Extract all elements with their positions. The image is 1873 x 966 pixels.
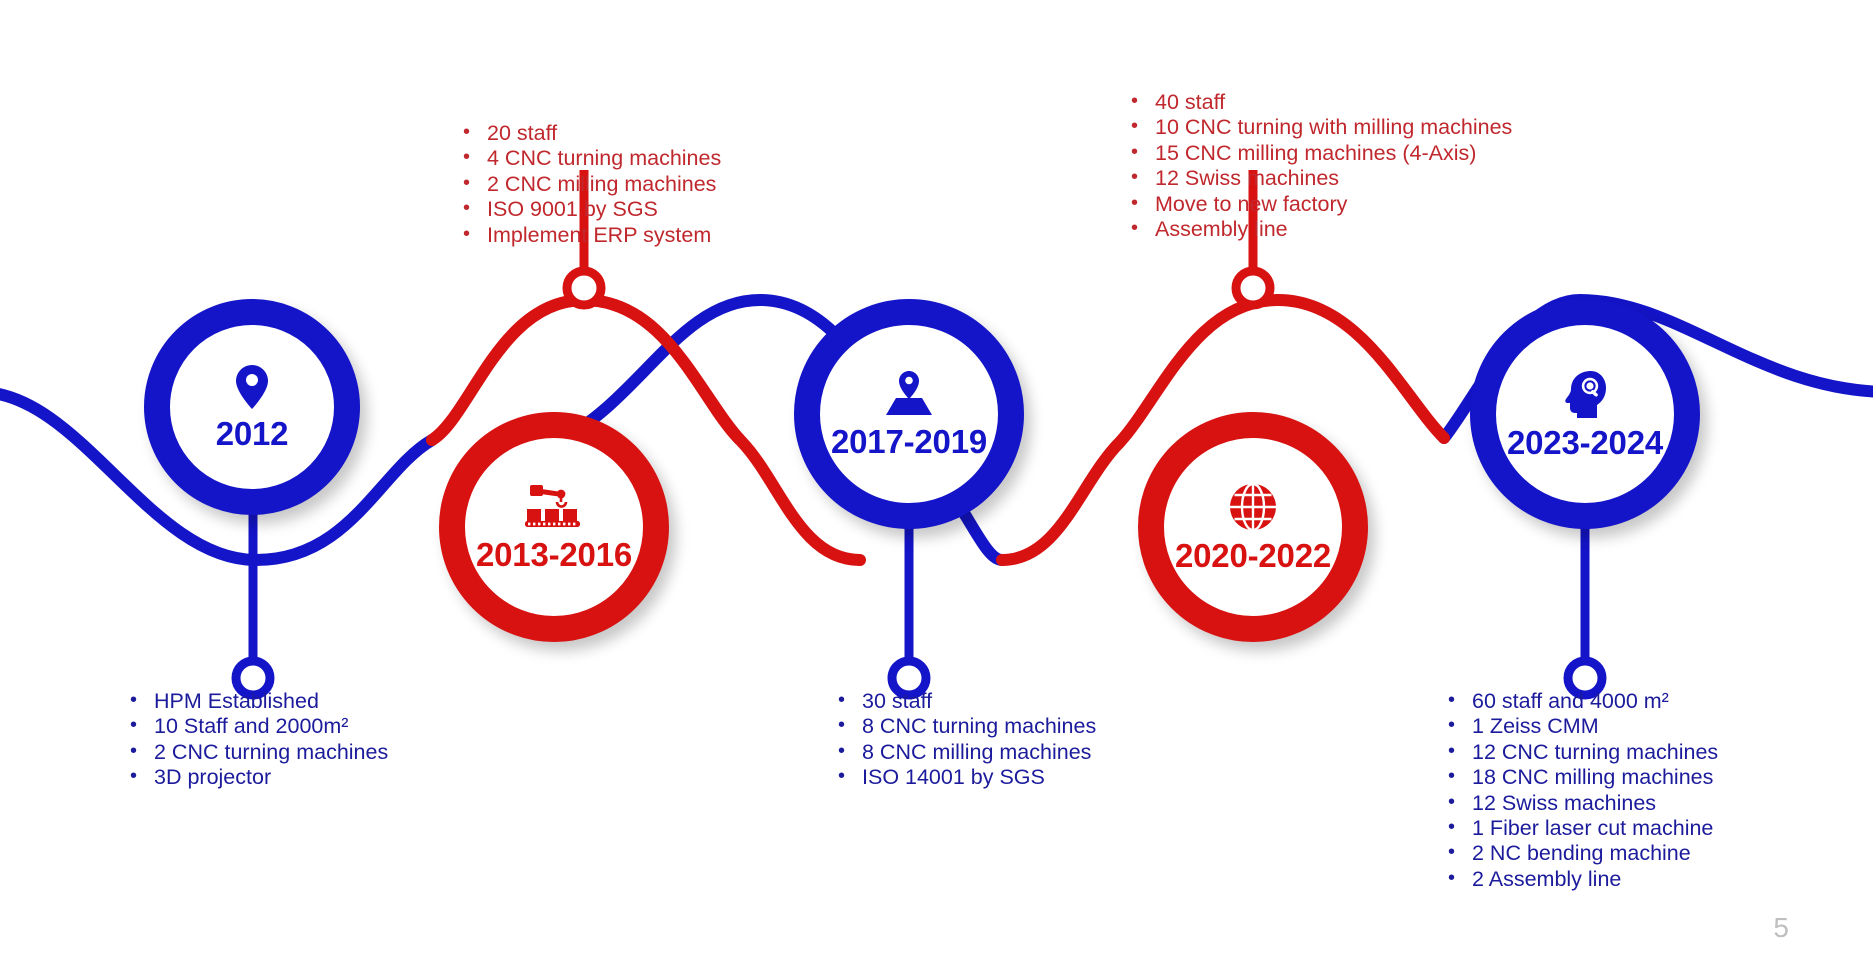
page-number: 5: [1773, 912, 1789, 944]
milestone-node-2017-2019[interactable]: 2017-2019: [794, 299, 1024, 529]
list-item: ISO 14001 by SGS: [830, 765, 1096, 790]
bullet-list-2020-2022: 40 staff 10 CNC turning with milling mac…: [1123, 90, 1512, 242]
location-map-icon: [880, 370, 938, 423]
list-item: ISO 9001 by SGS: [455, 197, 721, 222]
list-item: HPM Established: [122, 689, 388, 714]
list-item: Assembly line: [1123, 217, 1512, 242]
milestone-node-2023-2024[interactable]: 2023-2024: [1470, 299, 1700, 529]
milestone-label-2012: 2012: [216, 417, 289, 450]
list-item: 10 Staff and 2000m²: [122, 714, 388, 739]
list-item: 2 NC bending machine: [1440, 841, 1718, 866]
list-item: 30 staff: [830, 689, 1096, 714]
list-item: 1 Fiber laser cut machine: [1440, 816, 1718, 841]
milestone-node-2013-2016[interactable]: 2013-2016: [439, 412, 669, 642]
list-item: 40 staff: [1123, 90, 1512, 115]
list-item: 3D projector: [122, 765, 388, 790]
list-item: 12 Swiss machines: [1123, 166, 1512, 191]
bullet-list-2013-2016: 20 staff 4 CNC turning machines 2 CNC mi…: [455, 121, 721, 248]
list-item: 18 CNC milling machines: [1440, 765, 1718, 790]
bullet-list-2012: HPM Established 10 Staff and 2000m² 2 CN…: [122, 689, 388, 791]
milestone-label-2020-2022: 2020-2022: [1175, 539, 1331, 572]
bullet-list-2017-2019: 30 staff 8 CNC turning machines 8 CNC mi…: [830, 689, 1096, 791]
list-item: 12 Swiss machines: [1440, 791, 1718, 816]
globe-icon: [1228, 482, 1278, 537]
milestone-label-2013-2016: 2013-2016: [476, 538, 632, 571]
list-item: 60 staff and 4000 m²: [1440, 689, 1718, 714]
list-item: 2 CNC milling machines: [455, 172, 721, 197]
head-research-icon: [1559, 369, 1611, 424]
list-item: 15 CNC milling machines (4-Axis): [1123, 141, 1512, 166]
list-item: 8 CNC milling machines: [830, 740, 1096, 765]
timeline-slide: 2012: [0, 0, 1873, 966]
milestone-node-2012[interactable]: 2012: [144, 299, 360, 515]
milestone-node-2020-2022[interactable]: 2020-2022: [1138, 412, 1368, 642]
list-item: Implement ERP system: [455, 223, 721, 248]
factory-robot-icon: [525, 483, 583, 536]
bullet-list-2023-2024: 60 staff and 4000 m² 1 Zeiss CMM 12 CNC …: [1440, 689, 1718, 892]
list-item: 1 Zeiss CMM: [1440, 714, 1718, 739]
list-item: Move to new factory: [1123, 192, 1512, 217]
list-item: 8 CNC turning machines: [830, 714, 1096, 739]
list-item: 20 staff: [455, 121, 721, 146]
list-item: 2 Assembly line: [1440, 867, 1718, 892]
list-item: 12 CNC turning machines: [1440, 740, 1718, 765]
milestone-label-2017-2019: 2017-2019: [831, 425, 987, 458]
list-item: 2 CNC turning machines: [122, 740, 388, 765]
list-item: 10 CNC turning with milling machines: [1123, 115, 1512, 140]
milestone-label-2023-2024: 2023-2024: [1507, 426, 1663, 459]
list-item: 4 CNC turning machines: [455, 146, 721, 171]
map-pin-icon: [235, 364, 269, 415]
